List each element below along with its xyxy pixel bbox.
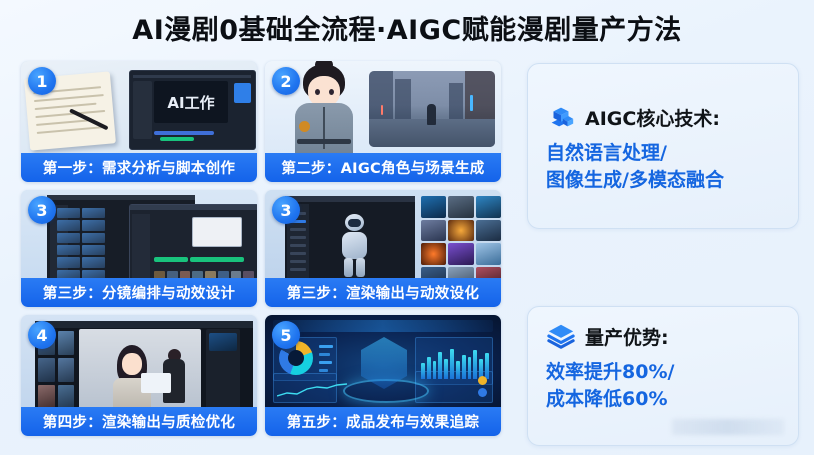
step-card-3-thumbnail bbox=[21, 190, 257, 278]
steps-grid: AI工作 1 bbox=[18, 58, 506, 448]
cube-stack-icon bbox=[546, 102, 576, 132]
render-gallery bbox=[421, 196, 501, 278]
step-card-4[interactable]: 3 第三步：渲染输出与动效设化 bbox=[265, 190, 501, 307]
step-badge-4: 3 bbox=[272, 196, 300, 224]
step-card-6-cell: 5 第五步：成品发布与效果追踪 bbox=[262, 312, 506, 441]
step-card-2-thumbnail bbox=[265, 61, 501, 153]
panel-adv-line-1: 效率提升80%/ bbox=[528, 359, 798, 386]
step-card-5-cell: 4 第四步：渲染输出与质检优化 bbox=[18, 312, 262, 441]
shot-thumbnail-grid bbox=[57, 208, 105, 278]
monitor-illustration: AI工作 bbox=[129, 70, 256, 150]
step-card-1[interactable]: AI工作 1 bbox=[21, 61, 257, 182]
poster-root: AI漫剧0基础全流程·AIGC赋能漫剧量产方法 AI工作 bbox=[0, 0, 814, 455]
panel-adv-header: 量产优势: bbox=[528, 321, 798, 351]
step-caption-2: 第二步：AIGC角色与场景生成 bbox=[265, 153, 501, 182]
step-card-1-cell: AI工作 1 bbox=[18, 58, 262, 187]
step-badge-2: 2 bbox=[272, 67, 300, 95]
step-card-1-thumbnail: AI工作 bbox=[21, 61, 257, 153]
scene-illustration bbox=[369, 71, 495, 147]
step-caption-4: 第三步：渲染输出与动效设化 bbox=[265, 278, 501, 307]
line-chart bbox=[277, 381, 347, 399]
avatar bbox=[234, 83, 251, 103]
step-caption-5: 第四步：渲染输出与质检优化 bbox=[21, 407, 257, 436]
step-card-6-thumbnail bbox=[265, 315, 501, 407]
panel-tech-title: AIGC核心技术: bbox=[585, 104, 720, 131]
panel-tech-line-1: 自然语言处理/ bbox=[528, 140, 798, 167]
panel-adv-title: 量产优势: bbox=[585, 323, 669, 350]
panel-adv-line-2: 成本降低60% bbox=[528, 386, 798, 413]
step-caption-6: 第五步：成品发布与效果追踪 bbox=[265, 407, 501, 436]
step-card-3-cell: 3 第三步：分镜编排与动效设计 bbox=[18, 187, 262, 312]
page-title: AI漫剧0基础全流程·AIGC赋能漫剧量产方法 bbox=[0, 6, 814, 48]
bar-chart bbox=[421, 345, 489, 379]
step-badge-6: 5 bbox=[272, 321, 300, 349]
step-card-4-thumbnail bbox=[265, 190, 501, 278]
preview-stage bbox=[79, 329, 201, 407]
robot-illustration bbox=[337, 214, 371, 276]
panel-tech-line-2: 图像生成/多模态融合 bbox=[528, 167, 798, 194]
screen-text: AI工作 bbox=[154, 81, 228, 123]
step-card-5-thumbnail bbox=[21, 315, 257, 407]
step-card-6[interactable]: 5 第五步：成品发布与效果追踪 bbox=[265, 315, 501, 436]
step-card-2-cell: 2 第二步：AIGC角色与场景生成 bbox=[262, 58, 506, 187]
step-card-3[interactable]: 3 第三步：分镜编排与动效设计 bbox=[21, 190, 257, 307]
mass-production-advantage-panel: 量产优势: 效率提升80%/ 成本降低60% bbox=[527, 306, 799, 446]
layers-icon bbox=[546, 321, 576, 351]
editor-window-front bbox=[129, 204, 257, 278]
step-card-2[interactable]: 2 第二步：AIGC角色与场景生成 bbox=[265, 61, 501, 182]
step-badge-1: 1 bbox=[28, 67, 56, 95]
step-badge-3: 3 bbox=[28, 196, 56, 224]
dashboard-header-bar bbox=[273, 320, 493, 332]
step-badge-5: 4 bbox=[28, 321, 56, 349]
watermark bbox=[672, 419, 784, 435]
step-caption-3: 第三步：分镜编排与动效设计 bbox=[21, 278, 257, 307]
aigc-core-tech-panel: AIGC核心技术: 自然语言处理/ 图像生成/多模态融合 bbox=[527, 63, 799, 229]
step-card-5[interactable]: 4 第四步：渲染输出与质检优化 bbox=[21, 315, 257, 436]
panel-tech-header: AIGC核心技术: bbox=[528, 102, 798, 132]
step-card-4-cell: 3 第三步：渲染输出与动效设化 bbox=[262, 187, 506, 312]
step-caption-1: 第一步：需求分析与脚本创作 bbox=[21, 153, 257, 182]
